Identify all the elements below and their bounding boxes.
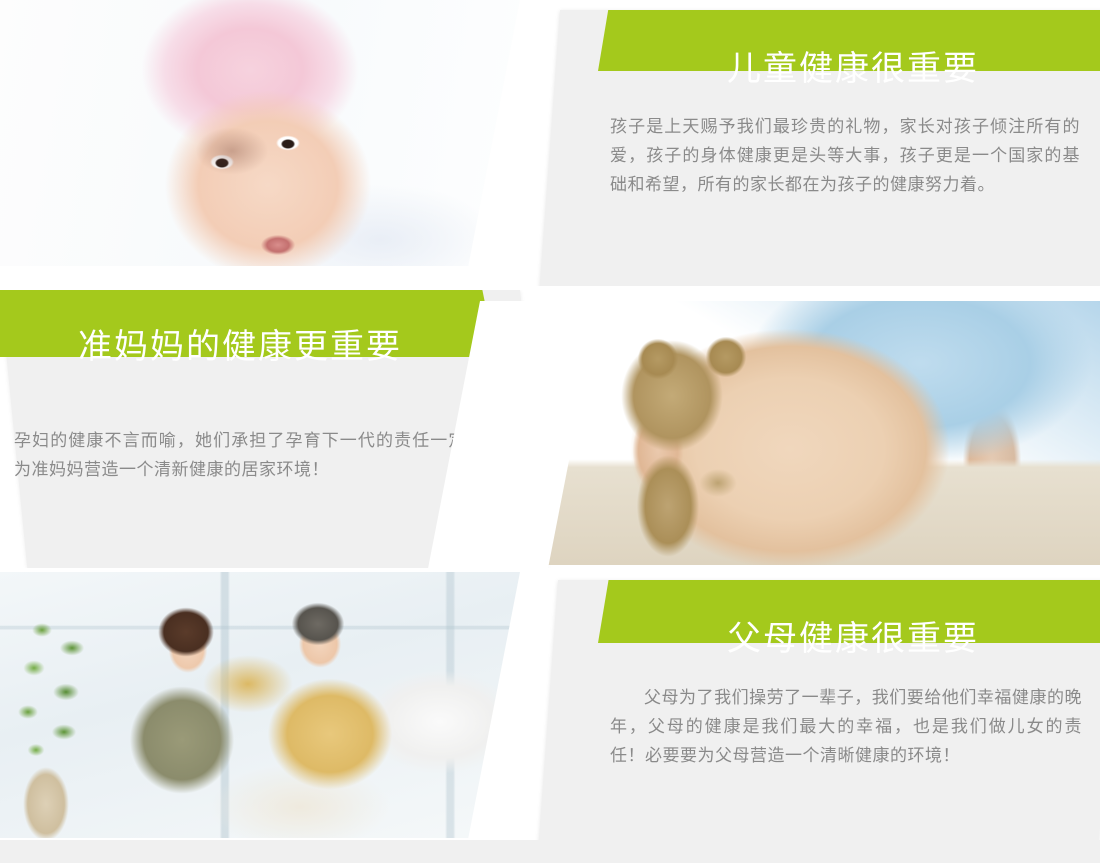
elderly-couple-photo [0, 572, 578, 838]
panel-title: 准妈妈的健康更重要 [78, 330, 402, 364]
panel-title: 父母健康很重要 [727, 622, 979, 656]
page-bottom-strip [0, 840, 1100, 863]
panel-title: 儿童健康很重要 [727, 52, 979, 86]
panel-body-text: 孩子是上天赐予我们最珍贵的礼物，家长对孩子倾注所有的爱，孩子的身体健康更是头等大… [610, 113, 1080, 200]
pregnant-woman-photo [540, 301, 1100, 565]
panel-body-text: 父母为了我们操劳了一辈子，我们要给他们幸福健康的晚年，父母的健康是我们最大的幸福… [610, 684, 1082, 771]
panel-parents-health: 父母健康很重要 父母为了我们操劳了一辈子，我们要给他们幸福健康的晚年，父母的健康… [0, 572, 1100, 863]
promo-page: 儿童健康很重要 孩子是上天赐予我们最珍贵的礼物，家长对孩子倾注所有的爱，孩子的身… [0, 0, 1100, 863]
panel-children-health: 儿童健康很重要 孩子是上天赐予我们最珍贵的礼物，家长对孩子倾注所有的爱，孩子的身… [0, 0, 1100, 290]
panel-expectant-mother-health: 准妈妈的健康更重要 孕妇的健康不言而喻，她们承担了孕育下一代的责任一定要为准妈妈… [0, 290, 1100, 572]
baby-photo [0, 0, 578, 266]
panel-body-text: 孕妇的健康不言而喻，她们承担了孕育下一代的责任一定要为准妈妈营造一个清新健康的居… [14, 427, 484, 485]
